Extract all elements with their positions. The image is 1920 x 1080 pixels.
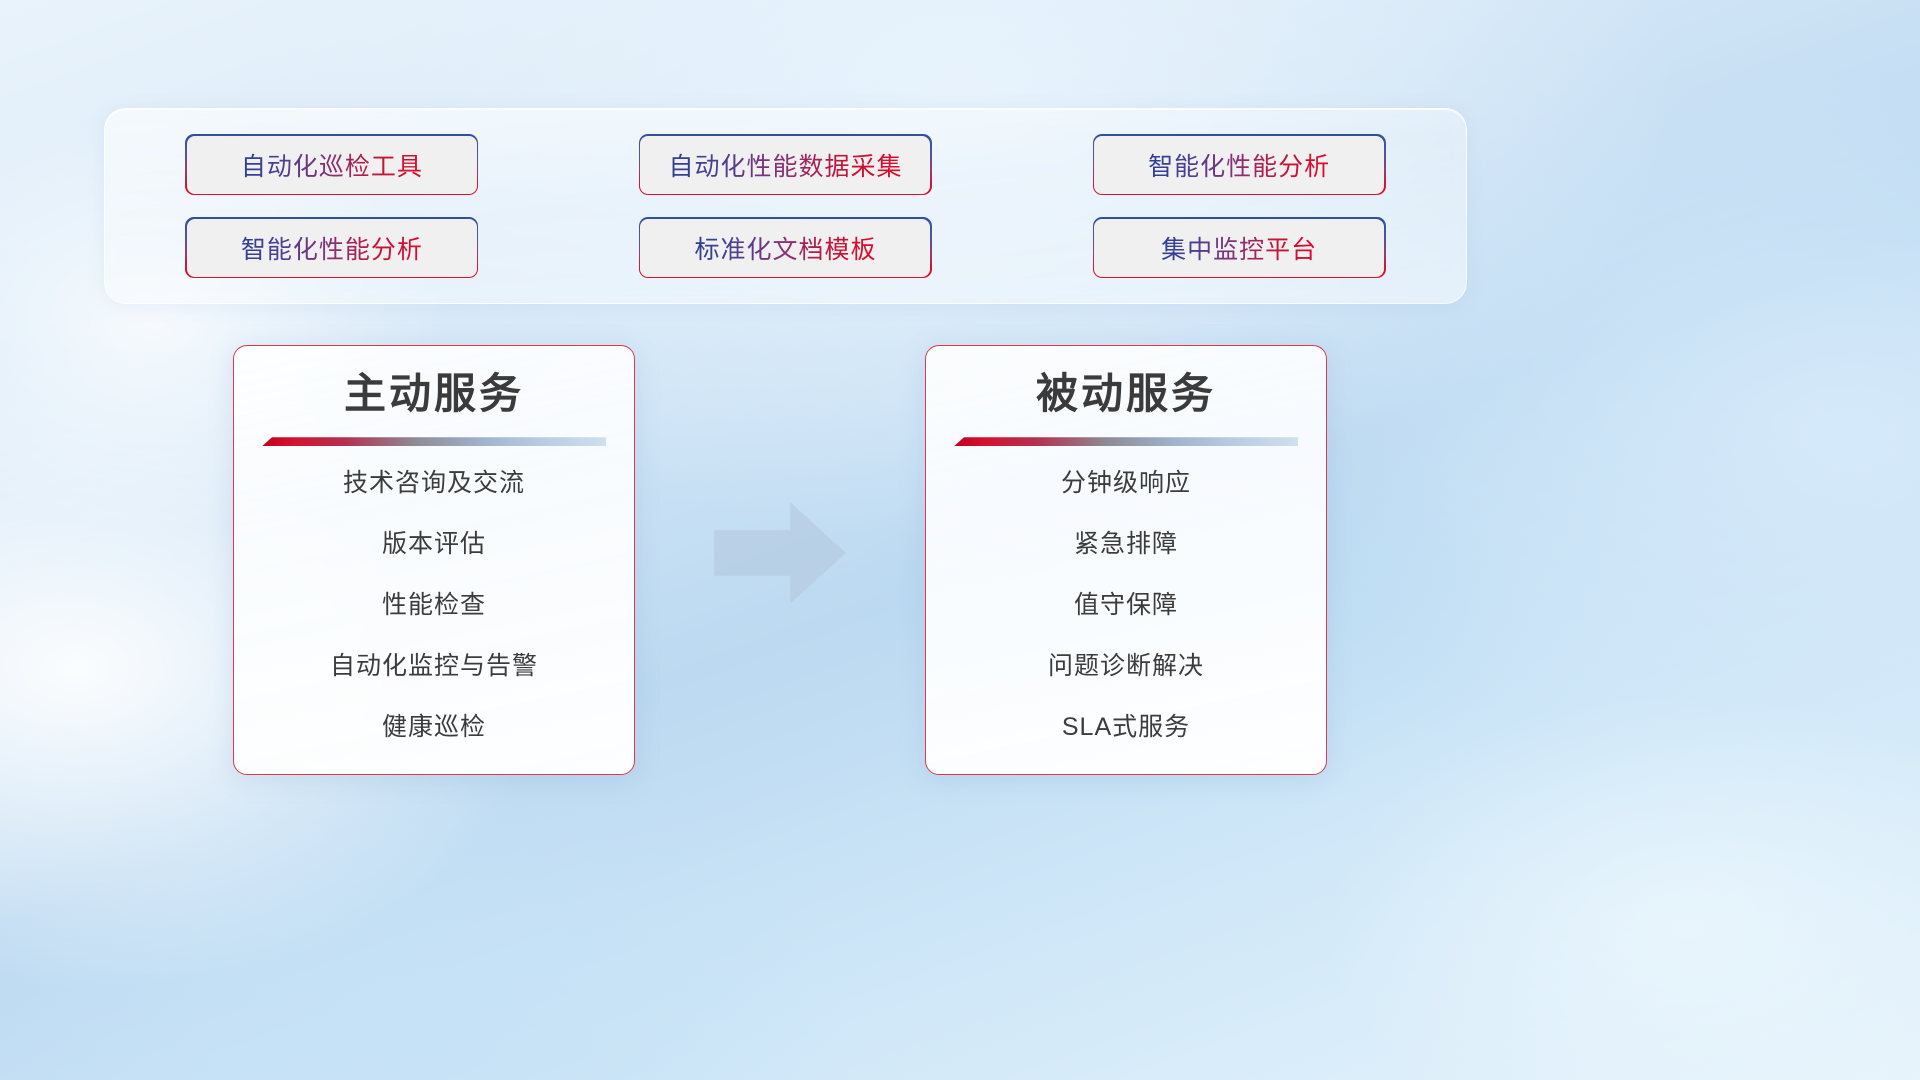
list-item: 值守保障 [926,593,1326,618]
card-divider [262,437,606,447]
list-item: 分钟级响应 [926,471,1326,496]
list-item: 健康巡检 [234,715,634,740]
capabilities-pill-grid: 自动化巡检工具 自动化性能数据采集 智能化性能分析 智能化性能分析 标准化文档模… [105,109,1466,303]
list-item: 自动化监控与告警 [234,654,634,679]
capability-pill-label: 集中监控平台 [1161,230,1317,266]
list-item: 性能检查 [234,593,634,618]
capability-pill-label: 自动化性能数据采集 [668,147,902,183]
capability-pill-label: 自动化巡检工具 [241,147,423,183]
list-item: SLA式服务 [926,715,1326,740]
list-item: 版本评估 [234,532,634,557]
capability-pill-label: 标准化文档模板 [694,230,876,266]
card-divider-bar [262,437,606,446]
capability-pill-5[interactable]: 标准化文档模板 [640,219,930,277]
capability-pill-label: 智能化性能分析 [241,230,423,266]
card-divider-bar [954,437,1298,446]
list-item: 紧急排障 [926,532,1326,557]
service-card-reactive: 被动服务 分钟级响应 紧急排障 值守保障 问题诊断解决 SLA式服务 [925,345,1327,775]
list-item: 技术咨询及交流 [234,471,634,496]
capability-pill-4[interactable]: 智能化性能分析 [187,219,477,277]
capability-pill-2[interactable]: 自动化性能数据采集 [640,136,930,194]
service-list-reactive: 分钟级响应 紧急排障 值守保障 问题诊断解决 SLA式服务 [926,471,1326,740]
service-list-proactive: 技术咨询及交流 版本评估 性能检查 自动化监控与告警 健康巡检 [234,471,634,740]
capability-pill-label: 智能化性能分析 [1148,147,1330,183]
card-title: 主动服务 [234,370,634,418]
service-card-proactive: 主动服务 技术咨询及交流 版本评估 性能检查 自动化监控与告警 健康巡检 [233,345,635,775]
list-item: 问题诊断解决 [926,654,1326,679]
card-title: 被动服务 [926,370,1326,418]
capability-pill-6[interactable]: 集中监控平台 [1094,219,1384,277]
capability-pill-1[interactable]: 自动化巡检工具 [187,136,477,194]
capability-pill-3[interactable]: 智能化性能分析 [1094,136,1384,194]
capabilities-panel: 自动化巡检工具 自动化性能数据采集 智能化性能分析 智能化性能分析 标准化文档模… [104,108,1467,304]
right-arrow-icon [712,498,848,608]
page-root: 自动化巡检工具 自动化性能数据采集 智能化性能分析 智能化性能分析 标准化文档模… [0,0,1920,1080]
card-divider [954,437,1298,447]
